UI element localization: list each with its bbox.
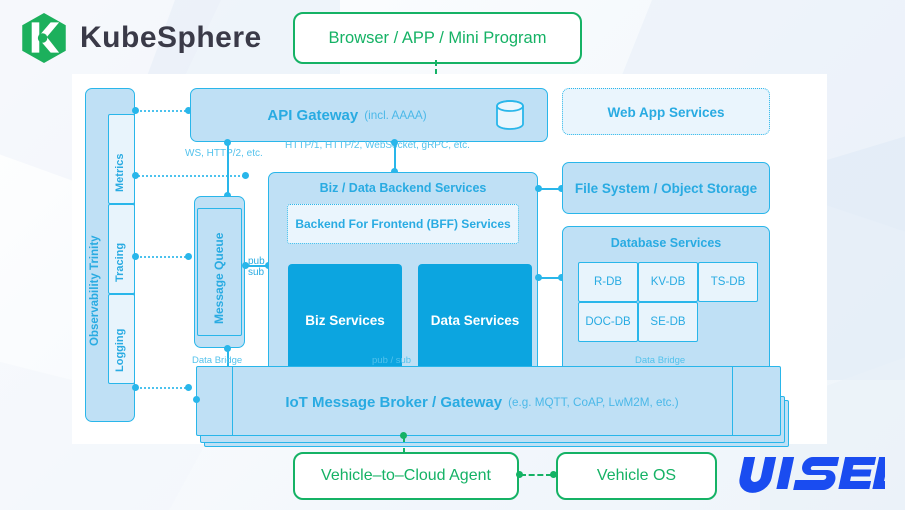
connector-dot [391,139,398,146]
connector-dot [132,107,139,114]
iot-divider [732,366,733,436]
iot-broker-title: IoT Message Broker / Gateway (e.g. MQTT,… [232,391,732,413]
connector-dot [224,345,231,352]
connector-dot [193,396,200,403]
api-gateway-subtitle: (incl. AAAA) [364,109,426,122]
data-services-label: Data Services [418,310,532,330]
db-cell-label: R-DB [594,276,622,288]
brand-name: KubeSphere [80,21,262,55]
db-cell-empty [698,302,758,342]
web-app-services-label: Web App Services [562,102,770,122]
client-channels-box[interactable]: Browser / APP / Mini Program [293,12,582,64]
db-cell-label: KV-DB [651,276,686,288]
db-cell-label: SE-DB [650,316,685,328]
file-system-label: File System / Object Storage [562,178,770,198]
vehicle-to-cloud-agent-label: Vehicle–to–Cloud Agent [321,467,491,485]
sub-label: sub [248,267,264,278]
db-cell-kv-db[interactable]: KV-DB [638,262,698,302]
connector-dot [185,384,192,391]
db-cell-label: TS-DB [711,276,746,288]
pub-sub-center-label: pub / sub [372,355,411,366]
vehicle-os-box[interactable]: Vehicle OS [556,452,717,500]
api-gateway-title-text: API Gateway [267,107,358,124]
database-cylinder-icon [492,98,528,134]
observability-wire [135,175,247,177]
connector-dot [224,139,231,146]
connector-dot [185,253,192,260]
connector-dot [242,262,249,269]
bff-services-label: Backend For Frontend (BFF) Services [287,215,519,233]
uisee-logo [735,452,885,494]
protocol-left-label: WS, HTTP/2, etc. [185,148,263,159]
iot-broker-subtitle: (e.g. MQTT, CoAP, LwM2M, etc.) [508,396,679,409]
brand-logo: KubeSphere [20,12,262,64]
db-cell-label: DOC-DB [585,316,630,328]
observability-wire [135,256,190,258]
database-grid: R-DB KV-DB TS-DB DOC-DB SE-DB [578,262,758,342]
tracing-label: Tracing [114,218,126,282]
api-gateway-title: API Gateway (incl. AAAA) [222,104,472,126]
iot-broker-title-text: IoT Message Broker / Gateway [285,394,502,411]
connector-dot [132,253,139,260]
data-bridge-left-label: Data Bridge [192,355,242,366]
database-services-title: Database Services [562,234,770,252]
client-channels-label: Browser / APP / Mini Program [329,29,547,48]
connector-dot [132,172,139,179]
db-cell-se-db[interactable]: SE-DB [638,302,698,342]
db-cell-doc-db[interactable]: DOC-DB [578,302,638,342]
observability-trinity-title: Observability Trinity [89,166,101,346]
message-queue-title: Message Queue [212,234,226,324]
data-bridge-right-label: Data Bridge [635,355,685,366]
logging-label: Logging [114,308,126,372]
backend-services-title: Biz / Data Backend Services [278,179,528,197]
gateway-queue-wire [227,142,229,196]
connector-dot [535,185,542,192]
kubesphere-hexagon-logo [20,12,68,64]
connector-dot [132,384,139,391]
connector-dot [535,274,542,281]
db-cell-ts-db[interactable]: TS-DB [698,262,758,302]
vehicle-to-cloud-agent-box[interactable]: Vehicle–to–Cloud Agent [293,452,519,500]
architecture-card: Observability Trinity Metrics Tracing Lo… [72,74,827,444]
connector-dot [242,172,249,179]
observability-wire [135,110,190,112]
observability-wire [135,387,190,389]
connector-dot [550,471,557,478]
protocol-center-label: HTTP/1, HTTP/2, WebSocket, gRPC, etc. [285,140,470,151]
agent-os-connector [520,474,552,476]
biz-services-label: Biz Services [288,310,402,330]
db-cell-r-db[interactable]: R-DB [578,262,638,302]
vehicle-os-label: Vehicle OS [597,467,676,485]
slide-canvas: KubeSphere Browser / APP / Mini Program … [0,0,905,510]
metrics-label: Metrics [114,126,126,192]
